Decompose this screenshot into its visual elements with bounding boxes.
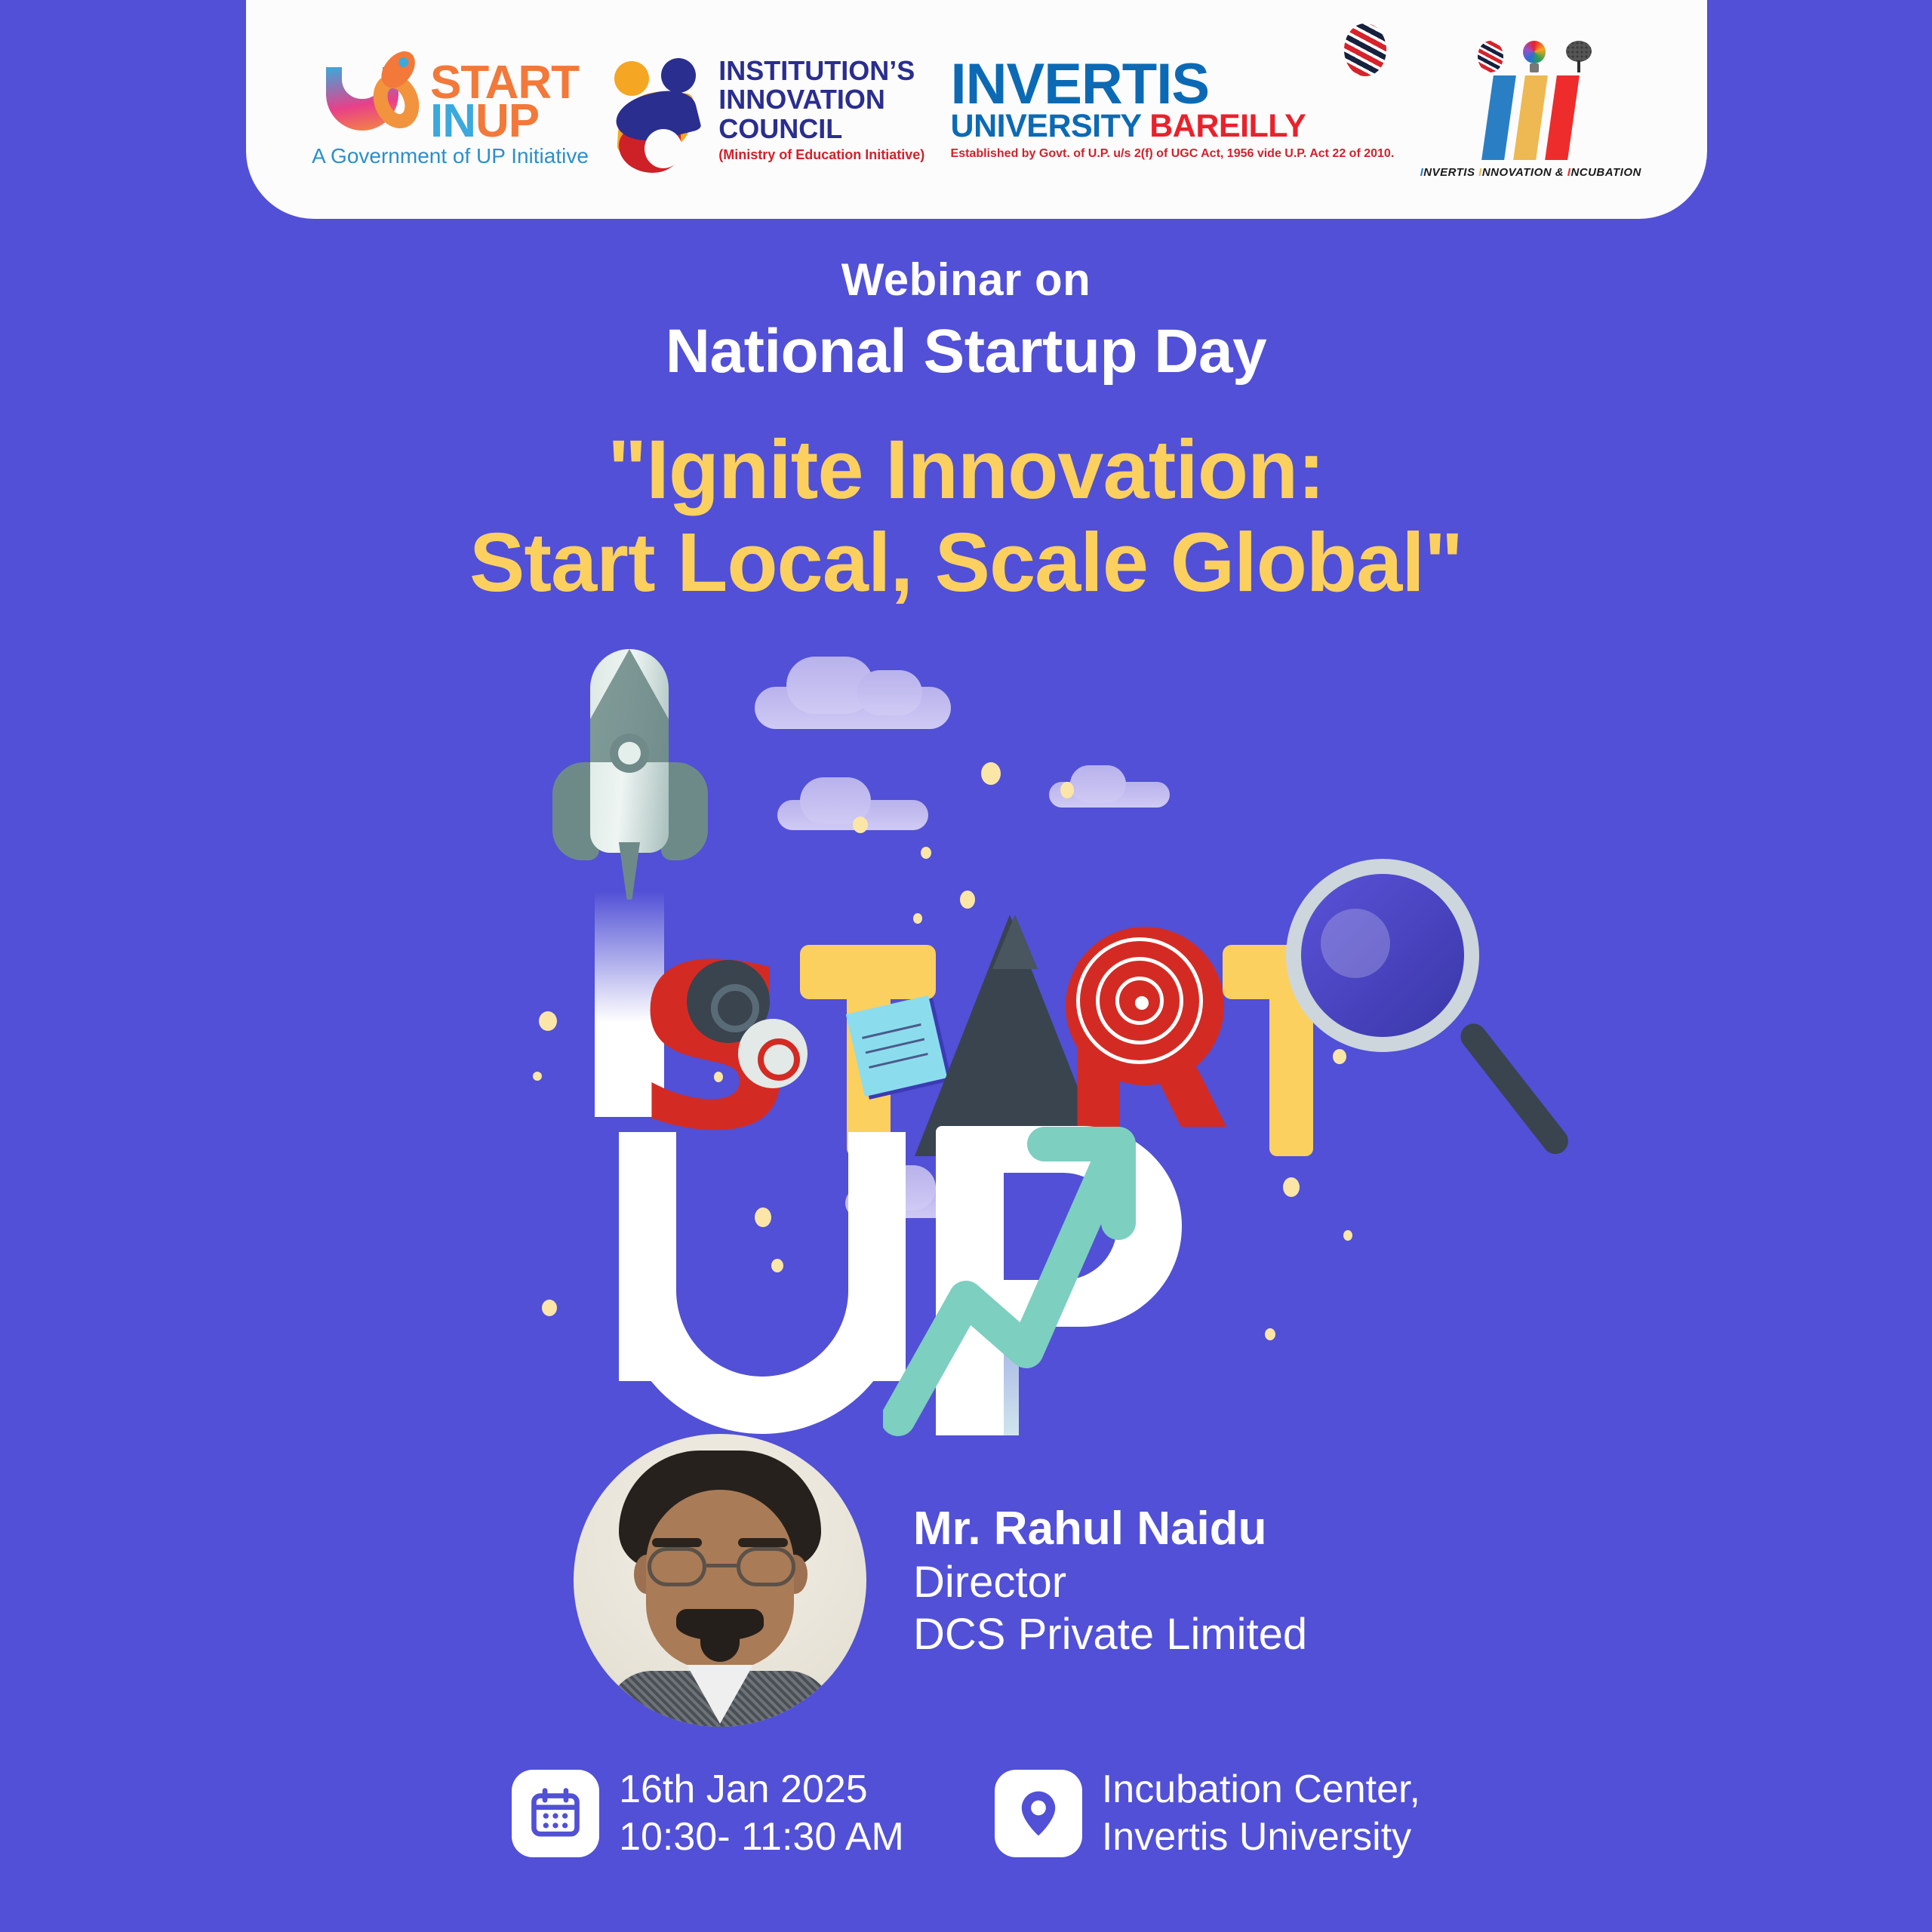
startinup-word-in: IN <box>430 95 475 147</box>
title-block: Webinar on National Startup Day "Ignite … <box>0 254 1932 609</box>
invertis-line-1: INVERTIS <box>951 58 1210 111</box>
cloud-icon <box>1070 765 1126 803</box>
speaker-avatar <box>574 1434 866 1727</box>
iic-line-3: COUNCIL <box>718 115 924 143</box>
startinup-mark-icon <box>321 51 420 141</box>
magnifier-handle-icon <box>1456 1019 1574 1159</box>
event-date: 16th Jan 2025 <box>619 1766 904 1814</box>
invertis-globe-icon <box>1344 23 1386 76</box>
venue-line-1: Incubation Center, <box>1102 1766 1420 1814</box>
iic-subtitle: (Ministry of Education Initiative) <box>718 148 924 162</box>
logo-invertis-university: INVERTIS UNIVERSITY BAREILLY Established… <box>951 58 1395 162</box>
theme-line-2: Start Local, Scale Global" <box>0 516 1932 609</box>
footer-date-time: 16th Jan 2025 10:30- 11:30 AM <box>512 1766 904 1862</box>
footer-venue: Incubation Center, Invertis University <box>995 1766 1420 1862</box>
sparkle-dot <box>1060 782 1074 798</box>
sparkle-dot <box>921 847 931 859</box>
speaker-name: Mr. Rahul Naidu <box>913 1502 1307 1555</box>
mountain-peak-icon <box>992 915 1038 969</box>
logo-invertis-innovation-incubation: INVERTIS INNOVATION & INCUBATION <box>1420 41 1641 179</box>
theme-title: "Ignite Innovation: Start Local, Scale G… <box>0 423 1932 609</box>
startinup-word-up: UP <box>475 95 539 147</box>
poster-canvas: START INUP A Government of UP Initiative <box>0 0 1932 1932</box>
speaker-organisation: DCS Private Limited <box>913 1609 1307 1660</box>
letter-p <box>936 1126 1185 1435</box>
startinup-tagline: A Government of UP Initiative <box>312 144 589 168</box>
sparkle-dot <box>542 1300 557 1316</box>
sparkle-dot <box>981 762 1001 785</box>
glasses-icon <box>648 1547 795 1586</box>
logo-header-card: START INUP A Government of UP Initiative <box>246 0 1707 219</box>
three-bars-icon <box>1487 75 1574 160</box>
cloud-icon <box>857 670 922 715</box>
startup-illustration: S R <box>528 649 1419 1426</box>
theme-line-1: "Ignite Innovation: <box>0 423 1932 516</box>
sparkle-dot <box>1343 1230 1352 1241</box>
gear-icon <box>738 1019 808 1088</box>
invertis-word-bareilly: BAREILLY <box>1149 108 1306 144</box>
footer-details: 16th Jan 2025 10:30- 11:30 AM Incubation… <box>0 1766 1932 1862</box>
speaker-block: Mr. Rahul Naidu Director DCS Private Lim… <box>574 1434 1307 1727</box>
logo-iic: INSTITUTION’S INNOVATION COUNCIL (Minist… <box>614 57 924 162</box>
sparkle-dot <box>853 817 868 833</box>
letter-u <box>619 1132 906 1434</box>
magnifier-icon <box>1286 859 1479 1052</box>
speaker-role: Director <box>913 1557 1307 1607</box>
event-title: National Startup Day <box>0 316 1932 387</box>
location-pin-icon <box>995 1770 1082 1857</box>
sparkle-dot <box>960 891 975 909</box>
iii-caption: INVERTIS INNOVATION & INCUBATION <box>1420 166 1641 179</box>
iic-mark-icon <box>614 57 705 162</box>
tree-icon <box>1565 41 1592 72</box>
lightbulb-icon <box>1521 41 1547 72</box>
iic-line-1: INSTITUTION’S <box>718 57 924 85</box>
calendar-icon <box>512 1770 599 1857</box>
eyebrow-text: Webinar on <box>0 254 1932 306</box>
rocket-icon <box>551 649 709 898</box>
sparkle-dot <box>1265 1328 1275 1340</box>
sparkle-dot <box>539 1011 557 1031</box>
sparkle-dot <box>1283 1177 1300 1197</box>
logo-startinup: START INUP A Government of UP Initiative <box>312 51 589 168</box>
iic-line-2: INNOVATION <box>718 85 924 114</box>
target-icon <box>1066 927 1224 1085</box>
sparkle-dot <box>533 1072 542 1081</box>
invertis-word-university: UNIVERSITY <box>951 108 1141 144</box>
invertis-established-note: Established by Govt. of U.P. u/s 2(f) of… <box>951 147 1395 161</box>
striped-ball-icon <box>1478 41 1503 72</box>
venue-line-2: Invertis University <box>1102 1814 1420 1861</box>
event-time: 10:30- 11:30 AM <box>619 1814 904 1861</box>
